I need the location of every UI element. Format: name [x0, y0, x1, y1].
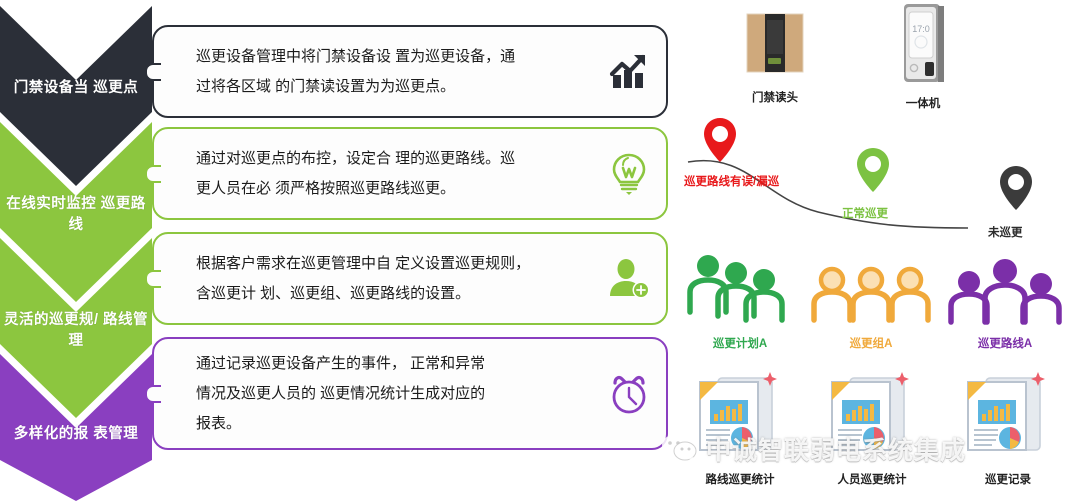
bubble-tail [145, 270, 161, 288]
growth-chart-icon [592, 27, 666, 116]
pin-label-not-patrolled: 未巡更 [988, 224, 1023, 240]
group-label: 巡更计划A [676, 335, 804, 351]
report-item-route-stats: 路线巡更统计 [676, 362, 804, 487]
report-item-person-stats: 人员巡更统计 [808, 362, 936, 487]
step-text-2: 通过对巡更点的布控，设定合 理的巡更路线。巡 更人员在必 须严格按照巡更路线巡更… [154, 144, 592, 204]
device-item-all-in-one: 17:0 一体机 [868, 2, 978, 111]
step-text-3: 根据客户需求在巡更管理中自 定义设置巡更规则， 含巡更计 划、巡更组、巡更路线的… [154, 249, 592, 309]
step-text-4: 通过记录巡更设备产生的事件， 正常和异常 情况及巡更人员的 巡更情况统计生成对应… [154, 349, 592, 439]
slide-canvas: 门禁设备当 巡更点 在线实时监控 巡更路线 灵活的巡更规/ 路线管理 多样化的报… [0, 0, 1074, 501]
step-text-1: 巡更设备管理中将门禁设备设 置为巡更设备，通 过将各区域 的门禁读设置为为巡更点… [154, 42, 592, 102]
svg-text:17:0: 17:0 [912, 24, 930, 34]
report-label: 巡更记录 [944, 471, 1072, 487]
map-pin-icon-red [704, 118, 736, 162]
all-in-one-terminal-photo: 17:0 [892, 2, 954, 88]
door-access-reader-photo [739, 8, 811, 80]
report-label: 路线巡更统计 [676, 471, 804, 487]
bubble-tail [145, 165, 161, 183]
report-document-icon [820, 362, 924, 466]
step-bubble-1: 巡更设备管理中将门禁设备设 置为巡更设备，通 过将各区域 的门禁读设置为为巡更点… [152, 25, 668, 118]
step-bubble-4: 通过记录巡更设备产生的事件， 正常和异常 情况及巡更人员的 巡更情况统计生成对应… [152, 337, 668, 450]
lightbulb-icon [592, 129, 666, 218]
add-user-icon [592, 234, 666, 323]
report-document-icon [688, 362, 792, 466]
chevron-label-4: 多样化的报 表管理 [0, 424, 152, 445]
group-label: 巡更路线A [940, 335, 1070, 351]
chevron-label-3: 灵活的巡更规/ 路线管理 [0, 310, 152, 352]
group-item-group-a: 巡更组A [804, 258, 938, 351]
report-item-patrol-record: 巡更记录 [944, 362, 1072, 487]
step-bubble-3: 根据客户需求在巡更管理中自 定义设置巡更规则， 含巡更计 划、巡更组、巡更路线的… [152, 232, 668, 325]
device-item-door-reader: 门禁读头 [720, 8, 830, 105]
bubble-tail [145, 385, 161, 403]
group-item-plan-a: 巡更计划A [676, 250, 804, 351]
people-group-icon [943, 254, 1067, 330]
people-group-icon [680, 250, 800, 330]
pin-label-normal-patrol: 正常巡更 [842, 205, 888, 221]
pin-label-wrong-route: 巡更路线有误/漏巡 [684, 173, 779, 189]
device-label: 门禁读头 [720, 89, 830, 105]
step-bubble-2: 通过对巡更点的布控，设定合 理的巡更路线。巡 更人员在必 须严格按照巡更路线巡更… [152, 127, 668, 220]
map-pin-icon-dark [1000, 166, 1032, 210]
group-item-route-a: 巡更路线A [940, 254, 1070, 351]
report-label: 人员巡更统计 [808, 471, 936, 487]
bubble-tail [145, 63, 161, 81]
map-pin-icon-green [857, 148, 889, 192]
chevron-step-stack: 门禁设备当 巡更点 在线实时监控 巡更路线 灵活的巡更规/ 路线管理 多样化的报… [0, 0, 152, 501]
illustration-panel: 门禁读头 17:0 一体机 [668, 0, 1074, 501]
chevron-label-2: 在线实时监控 巡更路线 [0, 194, 152, 236]
alarm-clock-icon [592, 339, 666, 448]
people-group-icon [808, 258, 934, 330]
chevron-label-1: 门禁设备当 巡更点 [0, 78, 152, 99]
route-line [688, 161, 968, 228]
report-document-icon [956, 362, 1060, 466]
group-label: 巡更组A [804, 335, 938, 351]
